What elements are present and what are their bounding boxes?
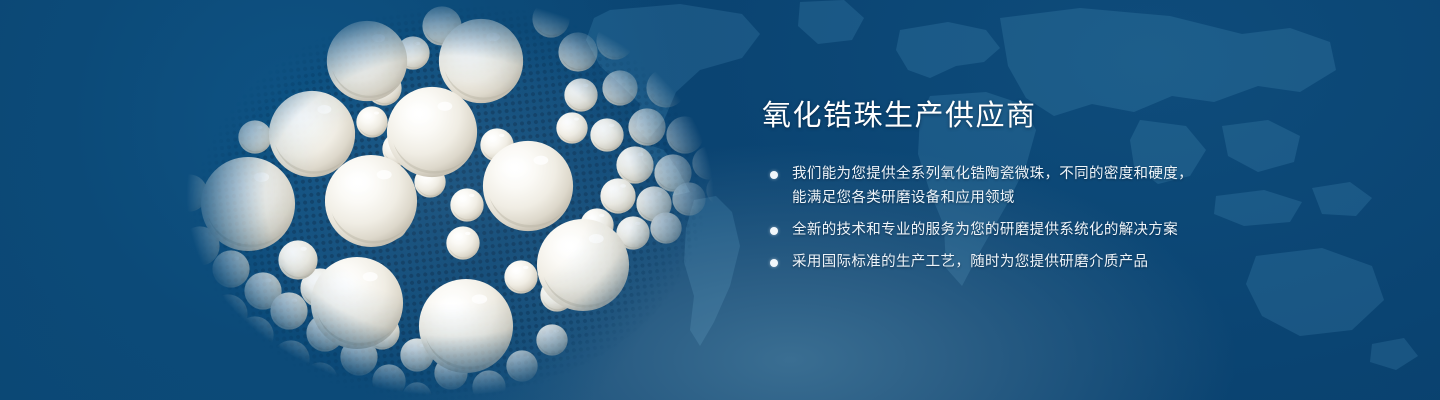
banner-content: 氧化锆珠生产供应商 我们能为您提供全系列氧化锆陶瓷微珠，不同的密度和硬度， 能满…	[762, 100, 1322, 274]
list-item-line: 全新的技术和专业的服务为您的研磨提供系统化的解决方案	[792, 219, 1322, 242]
zirconia-bead-cluster-photo	[150, 0, 750, 400]
bullet-dot-icon	[770, 259, 778, 267]
list-item: 我们能为您提供全系列氧化锆陶瓷微珠，不同的密度和硬度， 能满足您各类研磨设备和应…	[762, 163, 1322, 210]
bullet-dot-icon	[770, 227, 778, 235]
hero-banner: 氧化锆珠生产供应商 我们能为您提供全系列氧化锆陶瓷微珠，不同的密度和硬度， 能满…	[0, 0, 1440, 400]
list-item-line: 采用国际标准的生产工艺，随时为您提供研磨介质产品	[792, 251, 1322, 274]
list-item-line: 我们能为您提供全系列氧化锆陶瓷微珠，不同的密度和硬度，	[792, 163, 1322, 186]
bullet-dot-icon	[770, 171, 778, 179]
page-title: 氧化锆珠生产供应商	[762, 100, 1322, 133]
list-item: 全新的技术和专业的服务为您的研磨提供系统化的解决方案	[762, 219, 1322, 242]
feature-list: 我们能为您提供全系列氧化锆陶瓷微珠，不同的密度和硬度， 能满足您各类研磨设备和应…	[762, 163, 1322, 274]
list-item-line: 能满足您各类研磨设备和应用领域	[792, 187, 1322, 210]
list-item: 采用国际标准的生产工艺，随时为您提供研磨介质产品	[762, 251, 1322, 274]
